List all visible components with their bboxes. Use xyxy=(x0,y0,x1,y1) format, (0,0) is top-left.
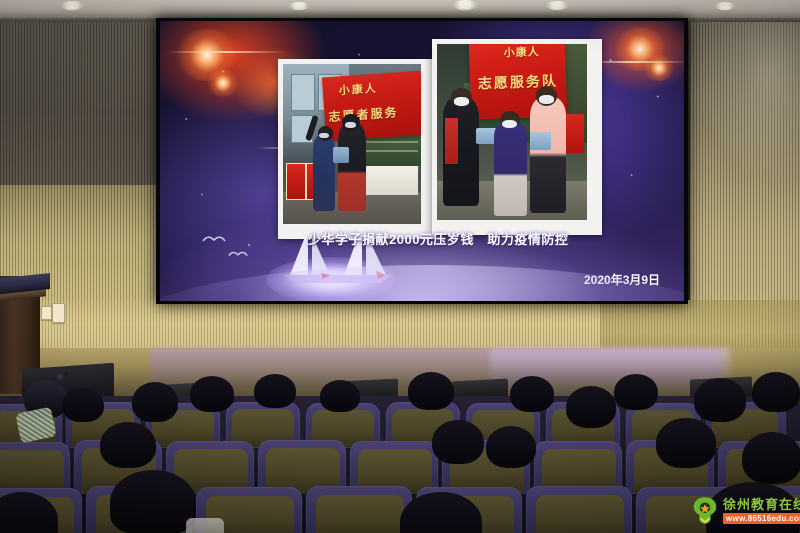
screenshot-root: 小康人 志愿者服务 xyxy=(0,0,800,533)
ceiling-downlight xyxy=(288,2,310,10)
photo-right-person-parent xyxy=(530,97,566,213)
photo-right-donated-item xyxy=(530,132,551,150)
photo-left-poster xyxy=(286,163,306,200)
firework-flare-icon xyxy=(642,55,676,81)
photo-left-person-child-mask xyxy=(319,133,329,139)
audience-head xyxy=(110,470,196,533)
seagull-icon xyxy=(228,249,248,259)
light-switch[interactable] xyxy=(52,303,65,323)
photo-right-banner-text-line1: 小康人 xyxy=(503,44,540,60)
flare-streak xyxy=(166,51,286,53)
screen-photo-left[interactable]: 小康人 志愿者服务 xyxy=(278,59,436,239)
photo-left-person-adult xyxy=(338,122,366,212)
green-leaf-logo-icon xyxy=(690,495,720,526)
screen-caption: 少华学子捐献2000元压岁钱 助力疫情防控 xyxy=(308,229,568,248)
watermark-brand-name: 徐州教育在线 xyxy=(723,498,800,512)
theater-seat-cushion xyxy=(536,495,624,533)
led-screen[interactable]: 小康人 志愿者服务 xyxy=(160,21,684,301)
audience-head xyxy=(752,372,800,412)
seagull-icon xyxy=(202,233,226,245)
photo-left-red-banner: 小康人 志愿者服务 xyxy=(322,70,421,141)
screen-photo-left-image: 小康人 志愿者服务 xyxy=(283,64,421,224)
photo-left-person-child xyxy=(313,134,335,211)
audience-head xyxy=(742,432,800,484)
watermark-url: www.86516edu.com xyxy=(723,513,800,524)
photo-left-poster-white xyxy=(360,166,418,195)
photo-left-held-paper xyxy=(333,147,350,163)
watermark-logo: 徐州教育在线 www.86516edu.com xyxy=(690,492,796,529)
photo-left-banner-text-line2: 志愿者服务 xyxy=(328,103,399,125)
photo-left-banner-text-line1: 小康人 xyxy=(339,80,379,99)
screen-photo-right[interactable]: 小康人 志愿服务队 xyxy=(432,39,602,235)
photo-right-parent-mask xyxy=(539,95,554,104)
light-switch[interactable] xyxy=(41,306,52,320)
photo-right-child-mask xyxy=(502,120,517,129)
audience-head xyxy=(614,374,658,410)
ceiling-downlight xyxy=(545,1,569,10)
audience-white-bag xyxy=(186,518,224,533)
wall-right-light-glow xyxy=(690,22,800,192)
audience-head xyxy=(190,376,234,412)
watermark-text-block: 徐州教育在线 www.86516edu.com xyxy=(723,498,800,524)
photo-right-volunteer-mask xyxy=(454,97,469,106)
seagull-icon xyxy=(284,227,302,236)
audience-head xyxy=(432,420,484,464)
audience-head xyxy=(486,426,536,468)
audience-head xyxy=(656,418,716,468)
firework-flare-icon xyxy=(206,69,240,97)
audience-head xyxy=(254,374,296,408)
photo-right-person-child xyxy=(494,121,527,216)
screen-photo-right-image: 小康人 志愿服务队 xyxy=(437,44,587,220)
audience-head xyxy=(132,382,178,422)
photo-left-person-adult-mask xyxy=(345,122,356,128)
wall-wood-band-right xyxy=(600,300,800,352)
audience-head xyxy=(408,372,454,410)
audience-head xyxy=(694,378,746,422)
audience-head xyxy=(566,386,616,428)
photo-left-window xyxy=(291,74,315,111)
audience-head xyxy=(100,422,156,468)
theater-seat-cushion xyxy=(316,495,404,533)
ceiling-downlight xyxy=(714,2,736,10)
ceiling-downlight xyxy=(452,0,478,10)
photo-right-volunteer-vest xyxy=(445,118,459,164)
audience-head xyxy=(510,376,554,412)
audience-head xyxy=(320,380,360,412)
ceiling-downlight xyxy=(60,1,84,10)
audience-seating-area xyxy=(0,396,800,533)
audience-head xyxy=(62,388,104,422)
